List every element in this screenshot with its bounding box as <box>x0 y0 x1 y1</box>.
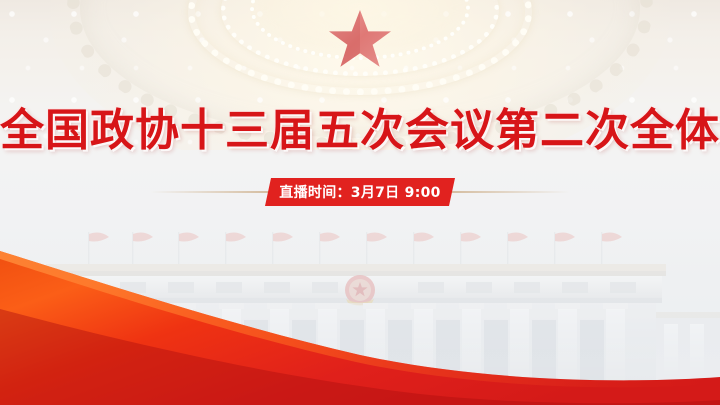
broadcast-time-banner: 直播时间：3月7日 9:00 <box>265 178 455 206</box>
subtitle-row: 直播时间：3月7日 9:00 <box>0 178 720 206</box>
divider-rule-left <box>150 191 268 193</box>
broadcast-poster: 全国政协十三届五次会议第二次全体会议 直播时间：3月7日 9:00 <box>0 0 720 405</box>
broadcast-time-label: 直播时间：3月7日 9:00 <box>279 182 440 202</box>
page-title: 全国政协十三届五次会议第二次全体会议 <box>0 104 720 158</box>
divider-rule-right <box>452 191 570 193</box>
red-silk-ribbon <box>0 245 720 405</box>
